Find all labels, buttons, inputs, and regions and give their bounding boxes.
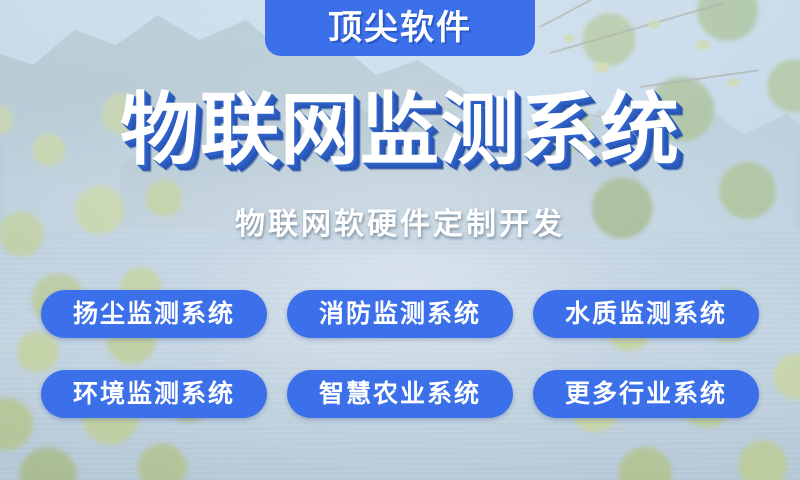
hero-title: 物联网监测系统 <box>0 90 800 169</box>
pill-button-dust-monitoring[interactable]: 扬尘监测系统 <box>41 290 267 338</box>
hero-title-text: 物联网监测系统 <box>120 90 680 169</box>
pill-button-more-industry-systems[interactable]: 更多行业系统 <box>533 370 759 418</box>
promo-banner: 顶尖软件 物联网监测系统 物联网软硬件定制开发 扬尘监测系统 消防监测系统 水质… <box>0 0 800 480</box>
brand-badge-label: 顶尖软件 <box>328 11 472 45</box>
hero-subtitle-text: 物联网软硬件定制开发 <box>235 208 565 243</box>
pill-label: 水质监测系统 <box>565 302 727 327</box>
pill-label: 更多行业系统 <box>565 382 727 407</box>
pill-button-smart-agriculture[interactable]: 智慧农业系统 <box>287 370 513 418</box>
pill-button-water-quality-monitoring[interactable]: 水质监测系统 <box>533 290 759 338</box>
system-category-row-2: 环境监测系统 智慧农业系统 更多行业系统 <box>41 370 759 418</box>
brand-badge[interactable]: 顶尖软件 <box>265 0 535 56</box>
banner-content: 顶尖软件 物联网监测系统 物联网软硬件定制开发 扬尘监测系统 消防监测系统 水质… <box>0 0 800 480</box>
pill-label: 消防监测系统 <box>319 302 481 327</box>
pill-label: 扬尘监测系统 <box>73 302 235 327</box>
pill-button-fire-monitoring[interactable]: 消防监测系统 <box>287 290 513 338</box>
pill-label: 智慧农业系统 <box>319 382 481 407</box>
pill-button-environment-monitoring[interactable]: 环境监测系统 <box>41 370 267 418</box>
system-category-list: 扬尘监测系统 消防监测系统 水质监测系统 环境监测系统 智慧农业系统 更多行业系… <box>0 290 800 418</box>
pill-label: 环境监测系统 <box>73 382 235 407</box>
hero-subtitle: 物联网软硬件定制开发 <box>0 208 800 243</box>
system-category-row-1: 扬尘监测系统 消防监测系统 水质监测系统 <box>41 290 759 338</box>
